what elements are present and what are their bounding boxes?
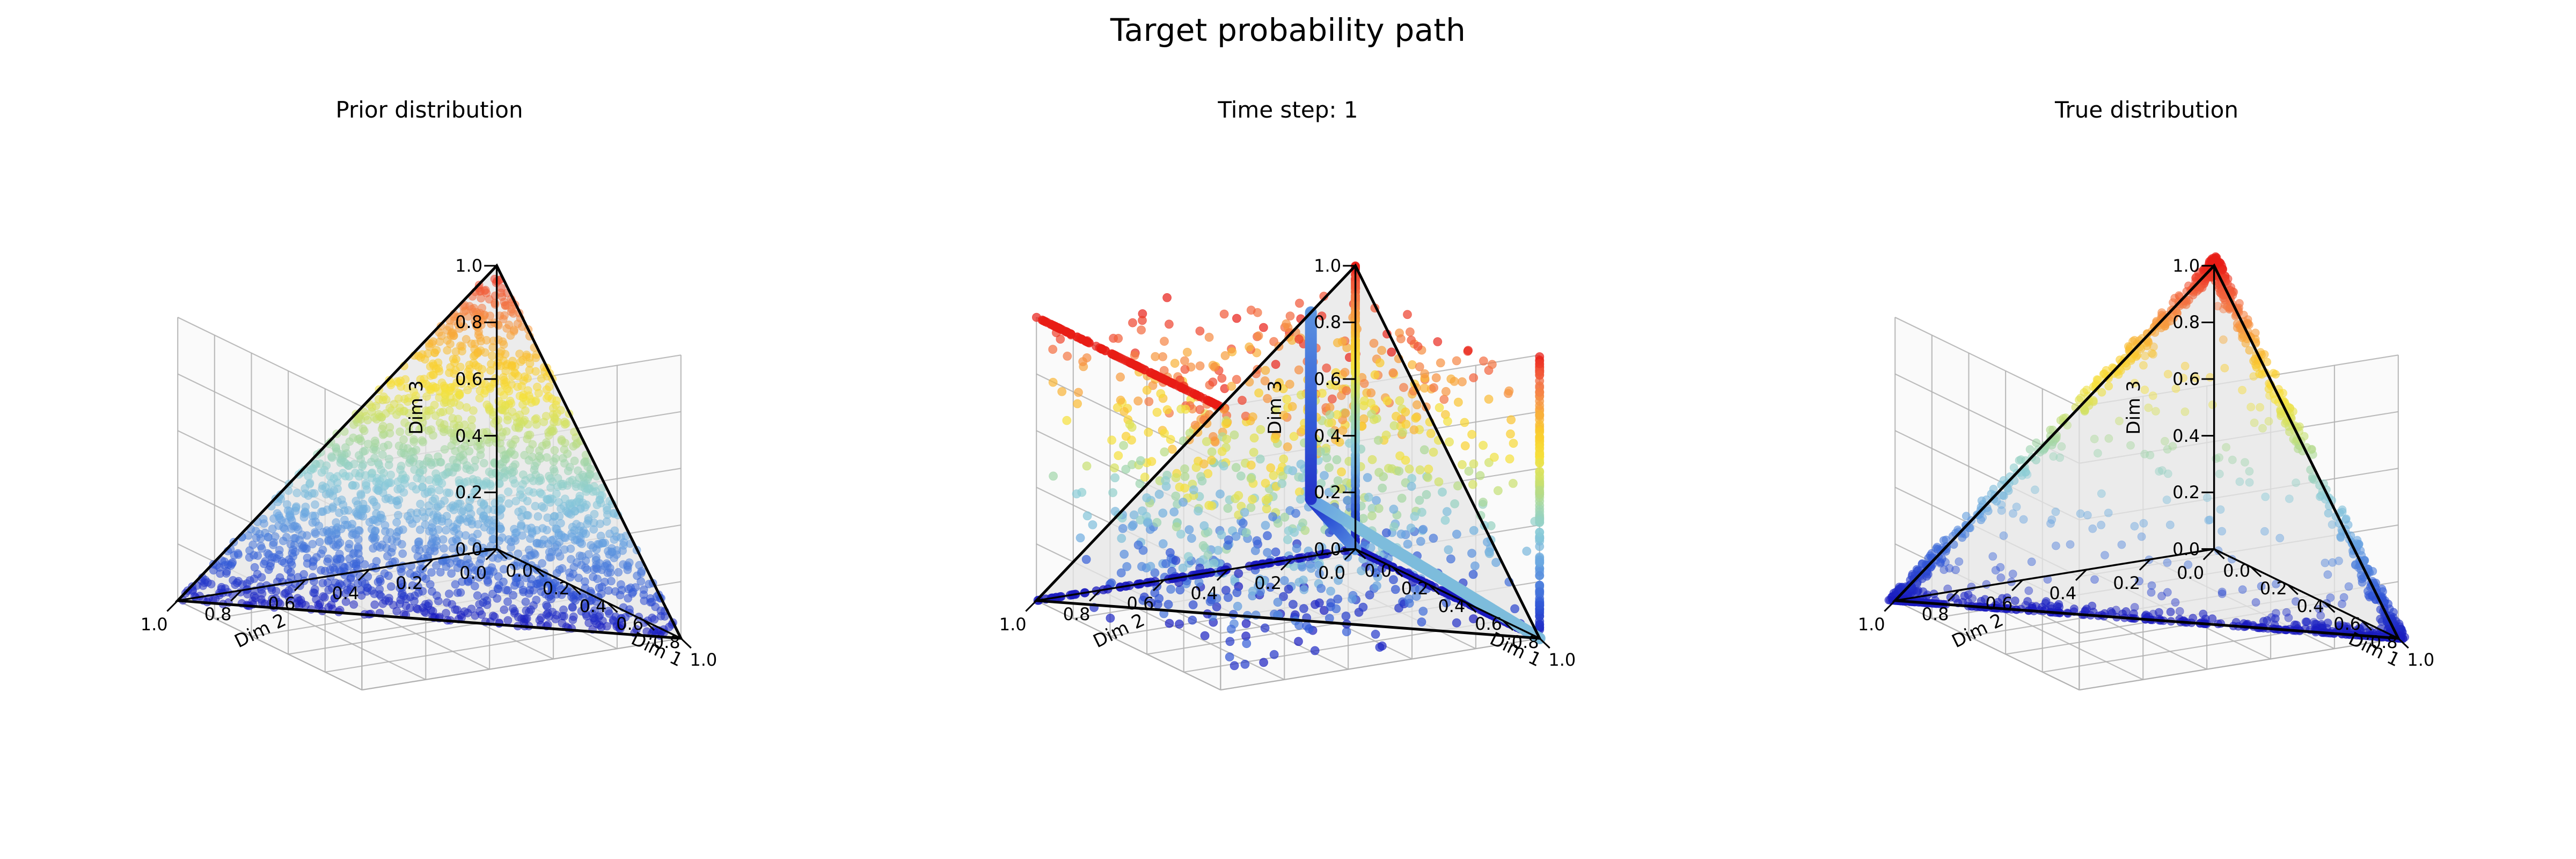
ztick-label: 0.8 bbox=[2172, 312, 2200, 332]
ytick-label: 0.8 bbox=[204, 604, 232, 624]
ztick-label: 0.4 bbox=[455, 426, 482, 446]
xtick-label: 0.0 bbox=[2223, 560, 2250, 581]
ytick-label: 0.4 bbox=[332, 583, 359, 603]
ytick-label: 1.0 bbox=[999, 614, 1027, 635]
axis-label-dim3: Dim 3 bbox=[1264, 380, 1286, 434]
xtick-label: 1.0 bbox=[1548, 650, 1576, 670]
subplot-true-distribution: True distribution 0.00.00.00.20.20.20.40… bbox=[1717, 81, 2576, 832]
ztick-label: 0.2 bbox=[2172, 482, 2200, 503]
xtick-label: 0.4 bbox=[2296, 596, 2324, 616]
ytick-label: 0.2 bbox=[396, 573, 423, 593]
axis-label-dim3: Dim 3 bbox=[2123, 380, 2145, 434]
ztick-label: 1.0 bbox=[455, 256, 482, 276]
ytick-label: 1.0 bbox=[141, 614, 168, 635]
ztick-label: 0.0 bbox=[1314, 539, 1341, 559]
axis-label-dim3: Dim 3 bbox=[406, 380, 427, 434]
ztick-label: 1.0 bbox=[1314, 256, 1341, 276]
ytick-label: 0.0 bbox=[2177, 563, 2204, 583]
xtick-label: 1.0 bbox=[2407, 650, 2434, 670]
xtick-label: 0.4 bbox=[579, 596, 606, 616]
figure-canvas: Target probability path Prior distributi… bbox=[0, 0, 2576, 859]
ytick-label: 0.6 bbox=[268, 593, 296, 614]
ztick-label: 0.6 bbox=[2172, 369, 2200, 389]
ztick-label: 0.2 bbox=[455, 482, 482, 503]
ytick-label: 0.6 bbox=[1986, 593, 2013, 614]
xtick-label: 0.2 bbox=[543, 578, 570, 599]
xtick-label: 0.2 bbox=[1401, 578, 1429, 599]
ztick-label: 0.6 bbox=[1314, 369, 1341, 389]
figure-suptitle: Target probability path bbox=[0, 12, 2576, 48]
ytick-label: 0.2 bbox=[2113, 573, 2140, 593]
ytick-label: 0.8 bbox=[1922, 604, 1949, 624]
ztick-label: 1.0 bbox=[2172, 256, 2200, 276]
subplot-time-step: Time step: 1 0.00.00.00.20.20.20.40.40.4… bbox=[859, 81, 1717, 832]
ztick-label: 0.8 bbox=[1314, 312, 1341, 332]
axes3d-timestep[interactable]: 0.00.00.00.20.20.20.40.40.40.60.60.60.80… bbox=[859, 81, 1717, 832]
xtick-label: 0.0 bbox=[1364, 560, 1392, 581]
xtick-label: 0.0 bbox=[506, 560, 533, 581]
ztick-label: 0.8 bbox=[455, 312, 482, 332]
axes3d-prior[interactable]: 0.00.00.00.20.20.20.40.40.40.60.60.60.80… bbox=[0, 81, 859, 832]
ztick-label: 0.6 bbox=[455, 369, 482, 389]
ytick-label: 0.4 bbox=[2049, 583, 2076, 603]
ytick-label: 0.4 bbox=[1190, 583, 1218, 603]
xtick-label: 1.0 bbox=[690, 650, 717, 670]
ytick-label: 0.2 bbox=[1254, 573, 1282, 593]
ytick-label: 0.0 bbox=[459, 563, 487, 583]
subplot-prior-distribution: Prior distribution 0.00.00.00.20.20.20.4… bbox=[0, 81, 859, 832]
axes3d-true[interactable]: 0.00.00.00.20.20.20.40.40.40.60.60.60.80… bbox=[1717, 81, 2576, 832]
xtick-label: 0.4 bbox=[1438, 596, 1465, 616]
ztick-label: 0.0 bbox=[2172, 539, 2200, 559]
ytick-label: 1.0 bbox=[1858, 614, 1885, 635]
ztick-label: 0.2 bbox=[1314, 482, 1341, 503]
ztick-label: 0.4 bbox=[2172, 426, 2200, 446]
ztick-label: 0.4 bbox=[1314, 426, 1341, 446]
xtick-label: 0.2 bbox=[2260, 578, 2287, 599]
ytick-label: 0.8 bbox=[1063, 604, 1091, 624]
ztick-label: 0.0 bbox=[455, 539, 482, 559]
ytick-label: 0.6 bbox=[1127, 593, 1154, 614]
ytick-label: 0.0 bbox=[1318, 563, 1345, 583]
